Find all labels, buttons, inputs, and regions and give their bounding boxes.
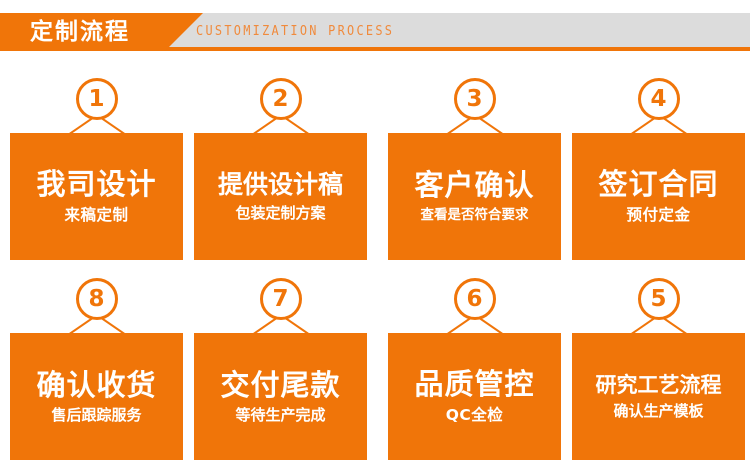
process-step-card[interactable]: 6 品质管控 QC全检 (388, 275, 561, 460)
step-panel[interactable]: 客户确认 查看是否符合要求 (388, 133, 561, 260)
step-panel[interactable]: 签订合同 预付定金 (572, 133, 745, 260)
step-number: 2 (263, 81, 299, 117)
step-subtitle: 等待生产完成 (235, 407, 325, 424)
step-number-badge: 2 (260, 78, 302, 120)
step-subtitle: QC全检 (446, 407, 504, 424)
process-step-card[interactable]: 2 提供设计稿 包装定制方案 (194, 75, 367, 260)
step-panel[interactable]: 研究工艺流程 确认生产模板 (572, 333, 745, 460)
step-number-badge: 4 (638, 78, 680, 120)
step-title: 签订合同 (598, 169, 718, 199)
step-number-badge: 8 (76, 278, 118, 320)
process-step-card[interactable]: 8 确认收货 售后跟踪服务 (10, 275, 183, 460)
step-title: 研究工艺流程 (596, 374, 722, 396)
step-subtitle: 来稿定制 (64, 207, 128, 224)
step-title: 客户确认 (414, 170, 534, 200)
step-title: 我司设计 (36, 169, 156, 199)
step-number: 8 (79, 281, 115, 317)
step-number: 6 (457, 281, 493, 317)
step-panel[interactable]: 我司设计 来稿定制 (10, 133, 183, 260)
process-step-card[interactable]: 4 签订合同 预付定金 (572, 75, 745, 260)
step-number-badge: 3 (454, 78, 496, 120)
step-title: 提供设计稿 (218, 172, 343, 198)
step-number-badge: 6 (454, 278, 496, 320)
step-title: 确认收货 (36, 370, 156, 400)
step-panel[interactable]: 品质管控 QC全检 (388, 333, 561, 460)
process-row-1: 1 我司设计 来稿定制 2 提供设计稿 包装定制方案 (0, 75, 750, 260)
step-panel[interactable]: 提供设计稿 包装定制方案 (194, 133, 367, 260)
step-number: 3 (457, 81, 493, 117)
process-step-card[interactable]: 5 研究工艺流程 确认生产模板 (572, 275, 745, 460)
step-subtitle: 确认生产模板 (613, 403, 703, 420)
step-panel[interactable]: 交付尾款 等待生产完成 (194, 333, 367, 460)
step-title: 交付尾款 (220, 370, 340, 400)
process-steps-grid: 1 我司设计 来稿定制 2 提供设计稿 包装定制方案 (0, 0, 750, 474)
step-panel[interactable]: 确认收货 售后跟踪服务 (10, 333, 183, 460)
step-title: 品质管控 (414, 369, 534, 399)
step-number-badge: 7 (260, 278, 302, 320)
step-number: 5 (641, 281, 677, 317)
step-subtitle: 包装定制方案 (235, 205, 325, 222)
step-subtitle: 售后跟踪服务 (51, 407, 141, 424)
step-subtitle: 预付定金 (626, 207, 690, 224)
step-number: 7 (263, 281, 299, 317)
process-step-card[interactable]: 1 我司设计 来稿定制 (10, 75, 183, 260)
step-number: 4 (641, 81, 677, 117)
step-number-badge: 1 (76, 78, 118, 120)
step-subtitle: 查看是否符合要求 (421, 208, 529, 223)
process-row-2: 8 确认收货 售后跟踪服务 7 交付尾款 等待生产完成 (0, 275, 750, 460)
process-step-card[interactable]: 7 交付尾款 等待生产完成 (194, 275, 367, 460)
step-number-badge: 5 (638, 278, 680, 320)
process-step-card[interactable]: 3 客户确认 查看是否符合要求 (388, 75, 561, 260)
step-number: 1 (79, 81, 115, 117)
